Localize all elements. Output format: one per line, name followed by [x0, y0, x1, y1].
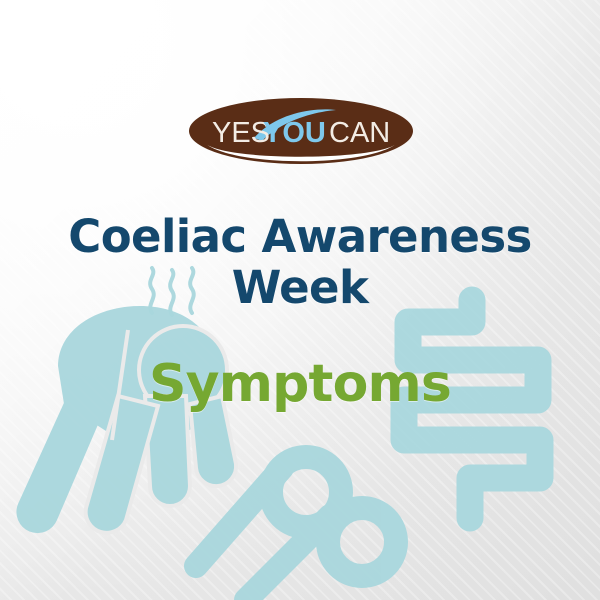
- page-title: Coeliac Awareness Week: [0, 211, 600, 313]
- yes-you-can-logo: YES YOU CAN: [188, 97, 414, 165]
- logo-word-can: CAN: [329, 117, 390, 149]
- logo-word-you: YOU: [263, 117, 326, 149]
- page-title-line-2: Week: [0, 262, 600, 313]
- page-title-line-1: Coeliac Awareness: [0, 211, 600, 262]
- logo-word-yes: YES: [212, 117, 270, 149]
- page-subtitle: Symptoms: [0, 355, 600, 413]
- poster-canvas: YES YOU CAN Coeliac Awareness Week Sympt…: [0, 0, 600, 600]
